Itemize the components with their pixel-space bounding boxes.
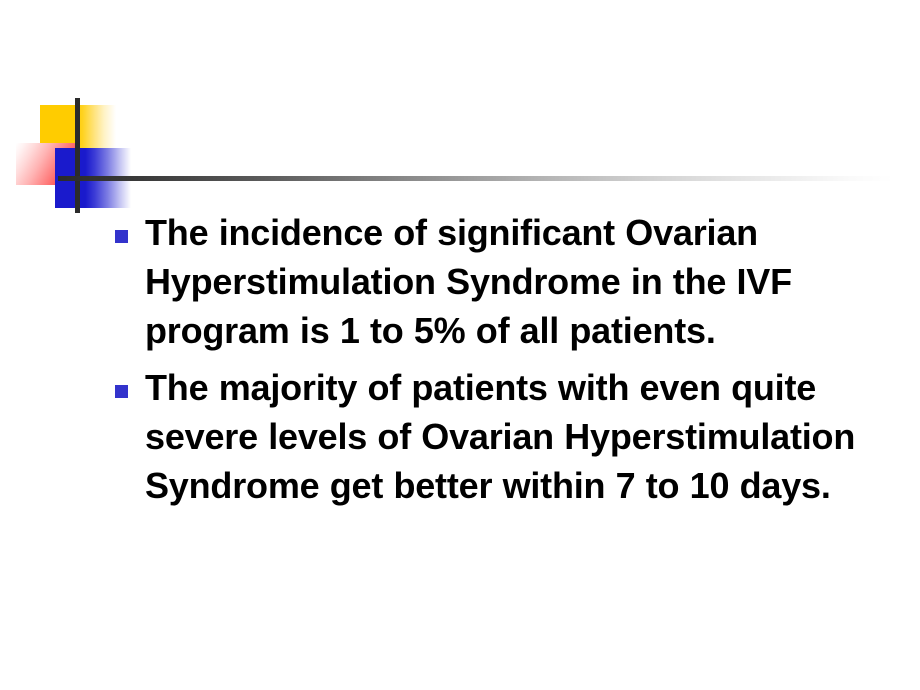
bullet-list-item: The majority of patients with even quite…: [110, 363, 900, 510]
square-bullet-icon: [115, 230, 128, 243]
slide-body-content: The incidence of significant Ovarian Hyp…: [110, 208, 900, 518]
red-gradient-rectangle-graphic: [16, 143, 76, 185]
slide-decoration-graphic: [0, 0, 920, 215]
yellow-square-graphic: [40, 105, 116, 169]
horizontal-rule-graphic: [58, 176, 893, 181]
bullet-item-text: The incidence of significant Ovarian Hyp…: [145, 208, 900, 355]
presentation-slide: The incidence of significant Ovarian Hyp…: [0, 0, 920, 690]
bullet-list-item: The incidence of significant Ovarian Hyp…: [110, 208, 900, 355]
square-bullet-icon: [115, 385, 128, 398]
blue-square-graphic: [55, 148, 131, 208]
bullet-item-text: The majority of patients with even quite…: [145, 363, 900, 510]
vertical-rule-graphic: [75, 98, 80, 213]
